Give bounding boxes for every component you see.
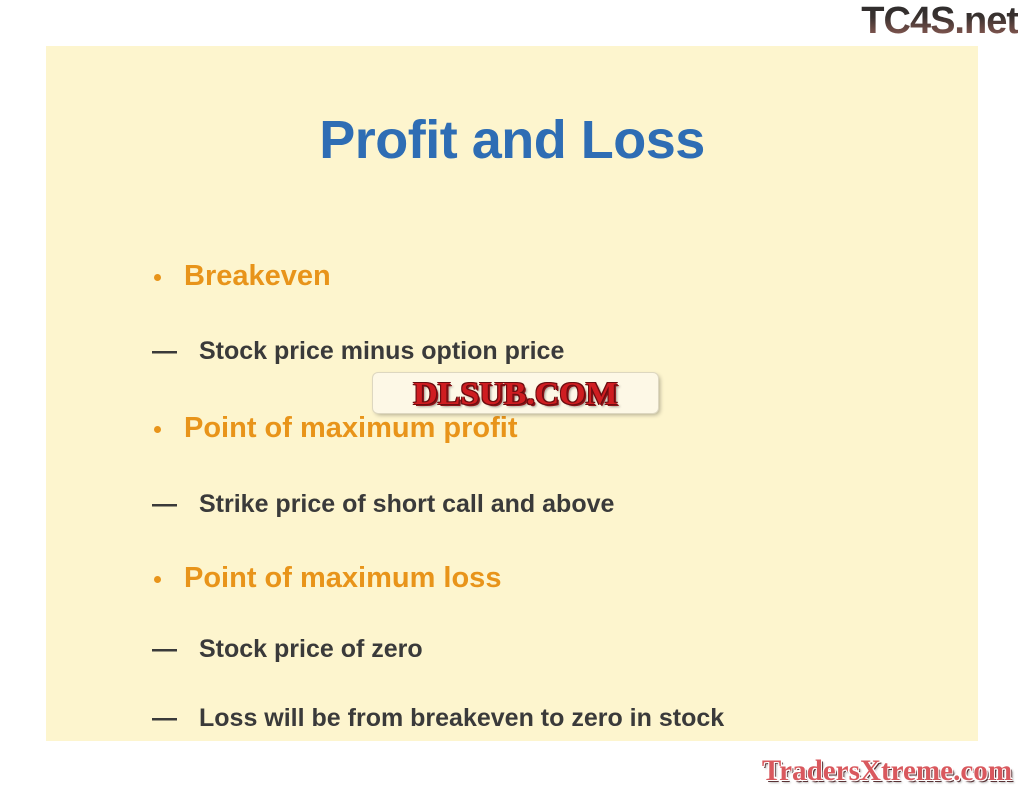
em-dash-icon: — — [152, 706, 174, 731]
watermark-tradersxtreme: TradersXtreme.com — [762, 754, 1012, 787]
em-dash-icon: — — [152, 492, 174, 517]
spacer — [152, 291, 952, 339]
spacer — [152, 662, 952, 706]
watermark-tc4s: TC4S.net — [861, 2, 1018, 42]
em-dash-icon: — — [152, 339, 174, 364]
spacer — [152, 517, 952, 564]
watermark-dlsub-label: DLSUB.COM — [413, 377, 617, 409]
bullet-level2-label: Strike price of short call and above — [199, 490, 614, 518]
bullet-level2: — Stock price minus option price — [152, 339, 952, 364]
bullet-level1: Point of maximum loss — [152, 564, 952, 593]
em-dash-icon: — — [152, 637, 174, 662]
watermark-dlsub: DLSUB.COM — [373, 373, 658, 413]
bullet-dot-icon — [154, 426, 161, 433]
bullet-level2-label: Loss will be from breakeven to zero in s… — [199, 704, 724, 732]
bullet-level2-label: Stock price of zero — [199, 635, 423, 663]
bullet-level1-label: Point of maximum loss — [184, 562, 501, 594]
bullet-level2: — Strike price of short call and above — [152, 492, 952, 517]
bullet-level1-label: Point of maximum profit — [184, 412, 518, 444]
bullet-level1-label: Breakeven — [184, 260, 331, 292]
bullet-level2: — Loss will be from breakeven to zero in… — [152, 706, 952, 731]
slide-title: Profit and Loss — [46, 112, 978, 169]
spacer — [152, 443, 952, 492]
slide-screenshot: { "slide": { "title": "Profit and Loss",… — [0, 0, 1024, 791]
bullet-dot-icon — [154, 274, 161, 281]
bullet-dot-icon — [154, 576, 161, 583]
bullet-list: Breakeven — Stock price minus option pri… — [152, 262, 952, 731]
bullet-level1: Breakeven — [152, 262, 952, 291]
spacer — [152, 593, 952, 637]
bullet-level1: Point of maximum profit — [152, 414, 952, 443]
bullet-level2: — Stock price of zero — [152, 637, 952, 662]
bullet-level2-label: Stock price minus option price — [199, 337, 564, 365]
